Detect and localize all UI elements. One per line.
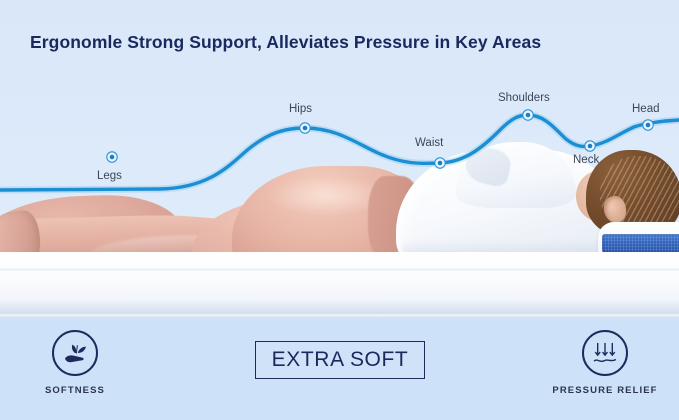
curve-marker-dot — [110, 155, 115, 160]
curve-label-neck: Neck — [573, 154, 599, 166]
curve-label-shoulders: Shoulders — [498, 92, 550, 104]
hand-holding-leaves-icon — [52, 330, 98, 376]
curve-marker-dot — [588, 144, 593, 149]
feature-softness[interactable]: SOFTNESS — [0, 330, 150, 396]
feature-softness-caption: SOFTNESS — [0, 385, 150, 396]
curve-marker-dot — [303, 126, 308, 131]
curve-marker-dot — [526, 113, 531, 118]
feature-pressure-relief[interactable]: PRESSURE RELIEF — [530, 330, 679, 396]
curve-label-legs: Legs — [97, 170, 122, 182]
extra-soft-badge-label: EXTRA SOFT — [272, 348, 409, 372]
extra-soft-badge: EXTRA SOFT — [255, 341, 425, 379]
downward-arrows-wave-icon — [582, 330, 628, 376]
curve-marker-dot — [438, 161, 443, 166]
curve-label-head: Head — [632, 103, 660, 115]
curve-label-hips: Hips — [289, 103, 312, 115]
curve-label-waist: Waist — [415, 137, 443, 149]
curve-marker-dot — [646, 123, 651, 128]
feature-pressure-relief-caption: PRESSURE RELIEF — [530, 385, 679, 396]
product-feature-poster: Ergonomle Strong Support, Alleviates Pre… — [0, 0, 679, 420]
